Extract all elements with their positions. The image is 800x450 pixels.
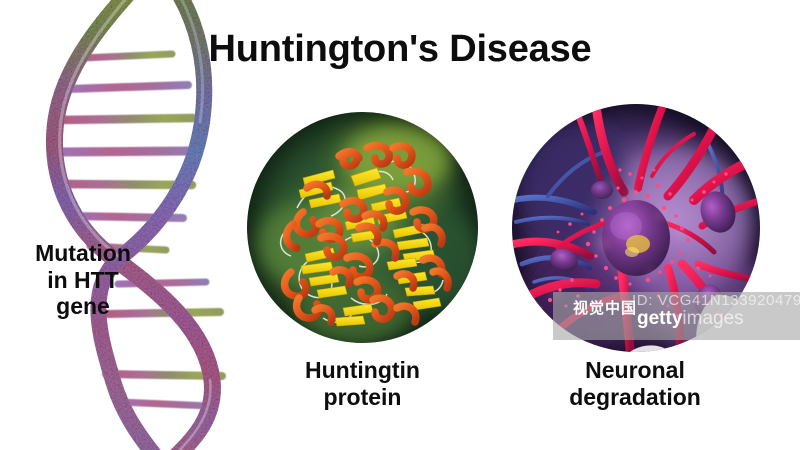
protein-ribbon-svg <box>247 112 478 343</box>
neuron-label-line-1: Neuronal <box>525 357 745 384</box>
neuron-panel-label: Neuronal degradation <box>525 357 745 410</box>
dna-label-line-1: Mutation <box>8 240 158 267</box>
huntingtin-protein-circle <box>247 112 478 343</box>
dna-panel-label: Mutation in HTT gene <box>8 240 158 320</box>
neuron-main-soma <box>602 200 670 276</box>
dna-label-line-3: gene <box>8 293 158 320</box>
dna-label-line-2: in HTT <box>8 267 158 294</box>
dna-double-helix-illustration <box>20 0 235 450</box>
watermark-getty-light: images <box>682 308 743 329</box>
figure-canvas: Huntington's Disease <box>0 0 800 450</box>
watermark-getty-images: gettyimages <box>637 309 744 328</box>
dna-helix-svg <box>20 0 235 450</box>
protein-panel-label: Huntingtin protein <box>255 357 470 410</box>
watermark-vcg-logo: 视觉中国 <box>573 301 637 316</box>
watermark-image-id: ID: VCG41N1339204796 <box>632 292 800 309</box>
watermark-getty-bold: getty <box>637 308 682 329</box>
neuron-label-line-2: degradation <box>525 384 745 411</box>
dna-strand-b <box>98 0 204 450</box>
protein-label-line-1: Huntingtin <box>255 357 470 384</box>
protein-label-line-2: protein <box>255 384 470 411</box>
